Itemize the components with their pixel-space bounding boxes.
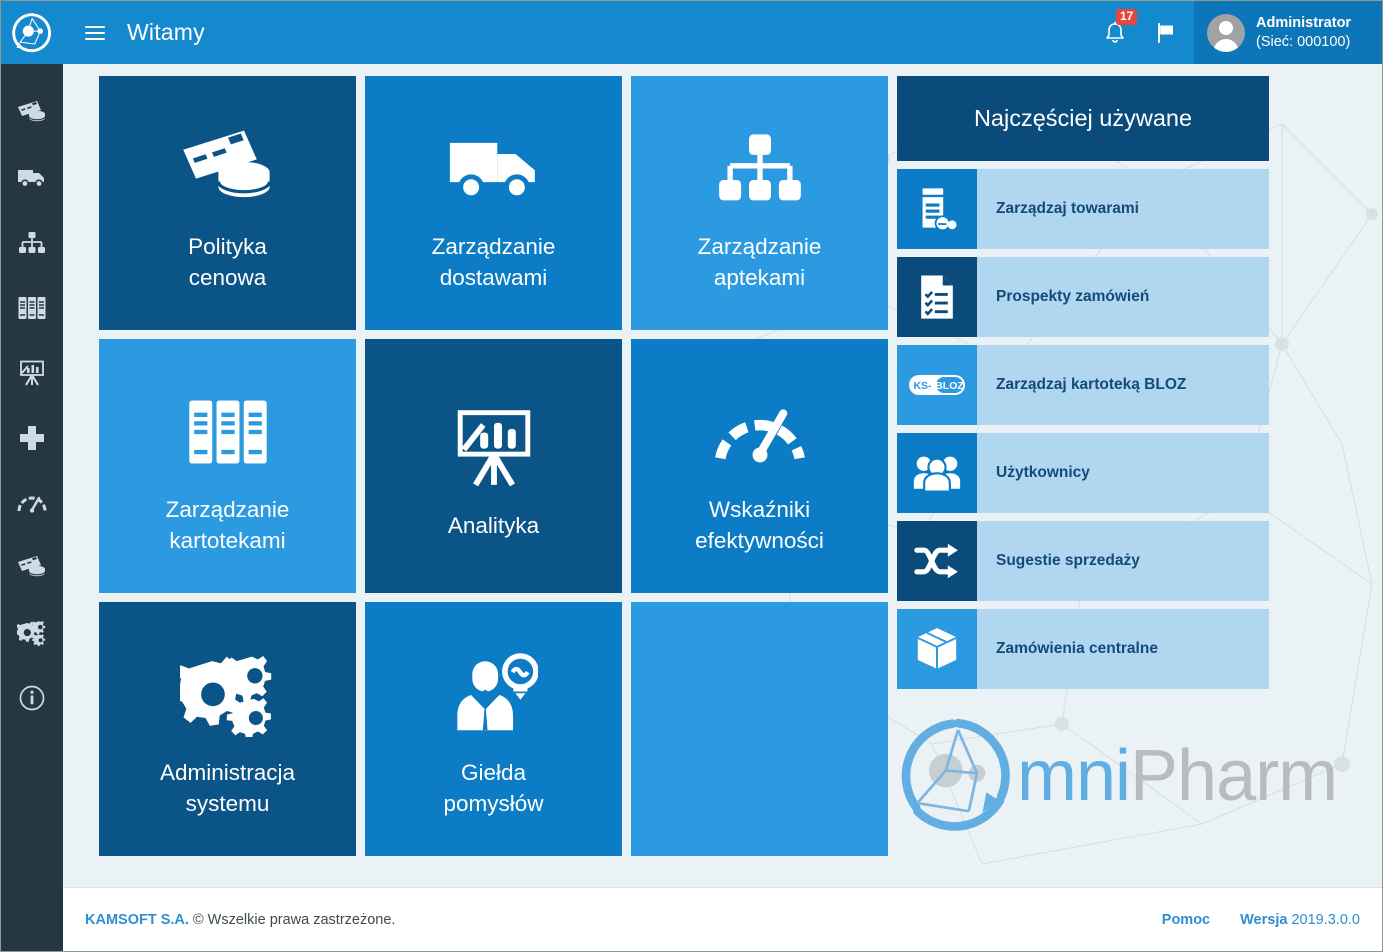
user-info: Administrator (Sieć: 000100) xyxy=(1256,14,1351,52)
favourite-icon xyxy=(897,169,977,249)
package-box-icon xyxy=(914,626,960,672)
svg-text:KS-: KS- xyxy=(913,380,932,392)
avatar xyxy=(1207,14,1245,52)
notification-badge: 17 xyxy=(1116,9,1137,25)
tile-label: Zarządzanie dostawami xyxy=(432,231,556,293)
user-menu[interactable]: Administrator (Sieć: 000100) xyxy=(1194,1,1382,64)
company-name: KAMSOFT S.A. xyxy=(85,912,189,928)
info-circle-icon xyxy=(19,685,45,711)
favourite-label: Prospekty zamówień xyxy=(977,257,1149,337)
version-label: Wersja xyxy=(1240,912,1287,928)
tile-icon xyxy=(445,113,543,225)
price-card-coins-icon xyxy=(17,555,47,581)
ks-bloz-capsule-icon: KS- BLOZ xyxy=(908,373,966,397)
speedometer-gauge-icon xyxy=(713,401,807,463)
watermark-text-primary: mni xyxy=(1017,736,1130,816)
tile-wskazniki-efektywnosci[interactable]: Wskaźniki efektywności xyxy=(631,339,888,593)
favourite-icon: KS- BLOZ xyxy=(897,345,977,425)
favourite-item-zarzadzaj-towarami[interactable]: Zarządzaj towarami xyxy=(897,169,1269,249)
tile-row: Zarządzanie kartotekami xyxy=(99,339,889,593)
page-title: Witamy xyxy=(127,19,205,46)
gears-settings-icon xyxy=(17,620,47,646)
omnipharm-watermark: mniPharm xyxy=(893,706,1353,846)
org-hierarchy-icon xyxy=(18,231,46,255)
sidebar-item-zarzadzanie-aptekami[interactable] xyxy=(1,210,63,275)
tile-zarzadzanie-dostawami[interactable]: Zarządzanie dostawami xyxy=(365,76,622,330)
sidebar-item-zarzadzanie-dostawami[interactable] xyxy=(1,145,63,210)
svg-text:BLOZ: BLOZ xyxy=(935,380,964,392)
tile-grid: Polityka cenowa Zarządzanie dostawami xyxy=(99,76,889,865)
person-idea-bulb-icon xyxy=(450,653,538,737)
tile-label: Wskaźniki efektywności xyxy=(695,494,824,556)
favourite-icon xyxy=(897,521,977,601)
sidebar-item-analityka[interactable] xyxy=(1,340,63,405)
omnipharm-network-logo-icon xyxy=(10,11,54,55)
tile-icon xyxy=(451,392,537,504)
favourite-label: Zamówienia centralne xyxy=(977,609,1158,689)
tile-administracja-systemu[interactable]: Administracja systemu xyxy=(99,602,356,856)
sidebar-item-polityka-cenowa[interactable] xyxy=(1,80,63,145)
flag-button[interactable] xyxy=(1138,1,1194,64)
sidebar xyxy=(1,64,63,952)
favourite-item-prospekty-zamowien[interactable]: Prospekty zamówień xyxy=(897,257,1269,337)
gears-settings-icon xyxy=(180,653,276,737)
chart-easel-icon xyxy=(451,408,537,488)
favourite-item-uzytkownicy[interactable]: Użytkownicy xyxy=(897,433,1269,513)
tile-zarzadzanie-aptekami[interactable]: Zarządzanie aptekami xyxy=(631,76,888,330)
favourite-label: Zarządzaj kartoteką BLOZ xyxy=(977,345,1186,425)
document-checklist-icon xyxy=(918,274,956,320)
application-window: Witamy 17 Administrator (Sieć: 000100) xyxy=(0,0,1383,952)
app-logo[interactable] xyxy=(1,1,63,64)
favourites-panel: Najczęściej używane xyxy=(897,76,1269,697)
hamburger-menu-icon[interactable] xyxy=(85,22,107,44)
watermark-text: mniPharm xyxy=(1017,740,1337,812)
watermark-text-secondary: Pharm xyxy=(1130,736,1337,816)
tile-icon xyxy=(713,376,807,488)
user-network: (Sieć: 000100) xyxy=(1256,33,1351,52)
medical-cross-icon xyxy=(19,425,45,451)
favourite-label: Zarządzaj towarami xyxy=(977,169,1139,249)
favourite-item-zamowienia-centralne[interactable]: Zamówienia centralne xyxy=(897,609,1269,689)
shuffle-arrows-icon xyxy=(914,542,960,580)
favourite-item-kartoteka-bloz[interactable]: KS- BLOZ Zarządzaj kartoteką BLOZ xyxy=(897,345,1269,425)
favourite-label: Użytkownicy xyxy=(977,433,1090,513)
tile-polityka-cenowa[interactable]: Polityka cenowa xyxy=(99,76,356,330)
favourites-title: Najczęściej używane xyxy=(897,76,1269,161)
tile-label: Zarządzanie kartotekami xyxy=(166,494,290,556)
tile-label: Administracja systemu xyxy=(160,757,295,819)
favourite-label: Sugestie sprzedaży xyxy=(977,521,1140,601)
tile-gielda-pomyslow[interactable]: Giełda pomysłów xyxy=(365,602,622,856)
tile-label: Polityka cenowa xyxy=(188,231,267,293)
binders-archive-icon xyxy=(17,296,47,320)
favourite-icon xyxy=(897,257,977,337)
tile-zarzadzanie-kartotekami[interactable]: Zarządzanie kartotekami xyxy=(99,339,356,593)
notifications-button[interactable]: 17 xyxy=(1092,1,1138,64)
tile-row: Administracja systemu xyxy=(99,602,889,856)
favourite-icon xyxy=(897,433,977,513)
favourite-item-sugestie-sprzedazy[interactable]: Sugestie sprzedaży xyxy=(897,521,1269,601)
delivery-truck-icon xyxy=(17,167,47,189)
delivery-truck-icon xyxy=(445,133,543,205)
tile-empty[interactable] xyxy=(631,602,888,856)
copyright: KAMSOFT S.A. © Wszelkie prawa zastrzeżon… xyxy=(85,912,395,928)
sidebar-item-wskazniki[interactable] xyxy=(1,470,63,535)
omnipharm-network-logo-icon xyxy=(893,711,1023,841)
main-content: Polityka cenowa Zarządzanie dostawami xyxy=(63,64,1382,887)
price-card-coins-icon xyxy=(180,127,276,211)
tile-icon xyxy=(180,639,276,751)
help-link[interactable]: Pomoc xyxy=(1162,912,1210,928)
tile-row: Polityka cenowa Zarządzanie dostawami xyxy=(99,76,889,330)
users-group-icon xyxy=(912,453,962,493)
rights-text: © Wszelkie prawa zastrzeżone. xyxy=(189,912,396,928)
price-card-coins-icon xyxy=(17,100,47,126)
sidebar-item-zarzadzanie-kartotekami[interactable] xyxy=(1,275,63,340)
app-header: Witamy 17 Administrator (Sieć: 000100) xyxy=(1,1,1382,64)
tile-icon xyxy=(180,113,276,225)
tile-label: Giełda pomysłów xyxy=(443,757,543,819)
speedometer-gauge-icon xyxy=(17,493,47,513)
version-info: Wersja 2019.3.0.0 xyxy=(1240,912,1360,928)
sidebar-item-cennik[interactable] xyxy=(1,535,63,600)
tile-icon xyxy=(716,113,804,225)
tile-label: Zarządzanie aptekami xyxy=(698,231,822,293)
tile-icon xyxy=(185,376,271,488)
flag-icon xyxy=(1154,22,1178,44)
version-value: 2019.3.0.0 xyxy=(1291,912,1360,928)
sidebar-item-administracja[interactable] xyxy=(1,600,63,665)
favourite-icon xyxy=(897,609,977,689)
medicine-bottle-pills-icon xyxy=(916,187,958,231)
sidebar-item-informacje[interactable] xyxy=(1,665,63,730)
app-footer: KAMSOFT S.A. © Wszelkie prawa zastrzeżon… xyxy=(63,887,1382,951)
chart-easel-icon xyxy=(18,360,46,386)
tile-analityka[interactable]: Analityka xyxy=(365,339,622,593)
binders-archive-icon xyxy=(185,397,271,467)
tile-icon xyxy=(450,639,538,751)
user-name: Administrator xyxy=(1256,14,1351,33)
sidebar-item-apteka[interactable] xyxy=(1,405,63,470)
tile-label: Analityka xyxy=(448,510,539,541)
org-hierarchy-icon xyxy=(716,131,804,207)
